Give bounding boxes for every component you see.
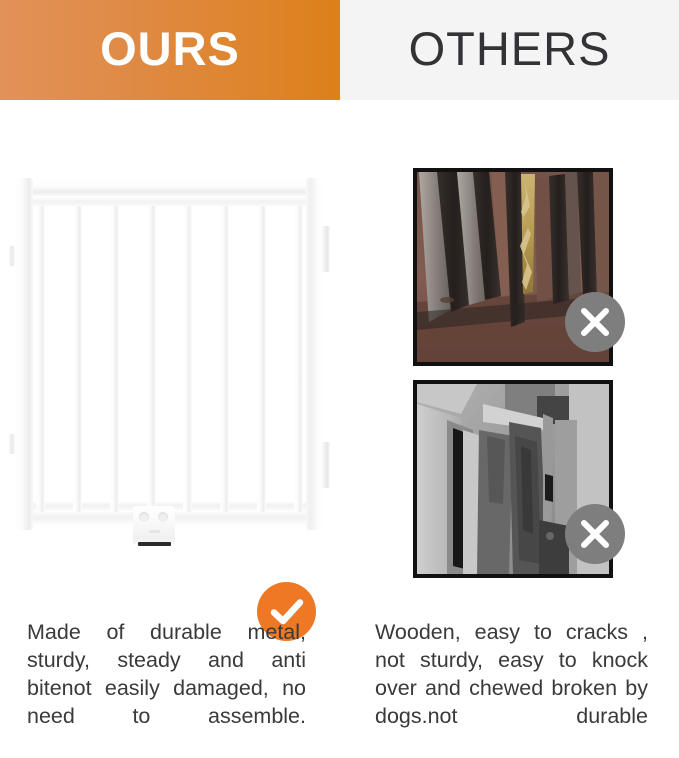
gate-foot-screw-hole (158, 512, 168, 522)
gate-mount-tab-top (9, 246, 15, 266)
gate-frame-left (14, 178, 33, 530)
gate-bar (110, 206, 119, 512)
gate-hinge-bottom (321, 442, 330, 488)
gate-bar (220, 206, 229, 512)
gate-bar (294, 206, 303, 512)
gate-foot-rubber-pad (138, 542, 171, 546)
comparison-body: Made of durable metal, sturdy, steady an… (0, 100, 679, 728)
gate-rail-top (33, 196, 306, 206)
metal-pet-gate-illustration (14, 178, 325, 530)
header-ours-panel: OURS (0, 0, 340, 100)
gate-mount-tab-bottom (9, 434, 15, 454)
gate-bar (257, 206, 266, 512)
gate-bar (36, 206, 45, 512)
product-image-ours (0, 160, 340, 600)
gate-bar (73, 206, 82, 512)
gate-hinge-top (321, 226, 330, 272)
x-badge-2 (565, 504, 625, 564)
ours-column: Made of durable metal, sturdy, steady an… (0, 100, 340, 728)
comparison-header: OURS OTHERS (0, 0, 679, 100)
gate-frame-top (14, 178, 325, 196)
x-icon (576, 515, 614, 553)
header-others-label: OTHERS (409, 25, 611, 75)
gate-foot-marking (149, 530, 160, 533)
gate-bars-group (36, 206, 303, 512)
header-others-panel: OTHERS (340, 0, 679, 100)
x-badge-1 (565, 292, 625, 352)
x-icon (576, 303, 614, 341)
gate-foot-screw-hole (139, 512, 149, 522)
ours-caption-text: Made of durable metal, sturdy, steady an… (27, 618, 306, 758)
gate-bar (147, 206, 156, 512)
others-column: Wooden, easy to cracks , not sturdy, eas… (340, 100, 679, 728)
ours-caption: Made of durable metal, sturdy, steady an… (27, 618, 306, 758)
gate-foot-bracket (133, 506, 175, 544)
gate-bar (183, 206, 192, 512)
header-ours-label: OURS (100, 25, 240, 75)
others-caption: Wooden, easy to cracks , not sturdy, eas… (375, 618, 648, 758)
others-caption-text: Wooden, easy to cracks , not sturdy, eas… (375, 618, 648, 758)
